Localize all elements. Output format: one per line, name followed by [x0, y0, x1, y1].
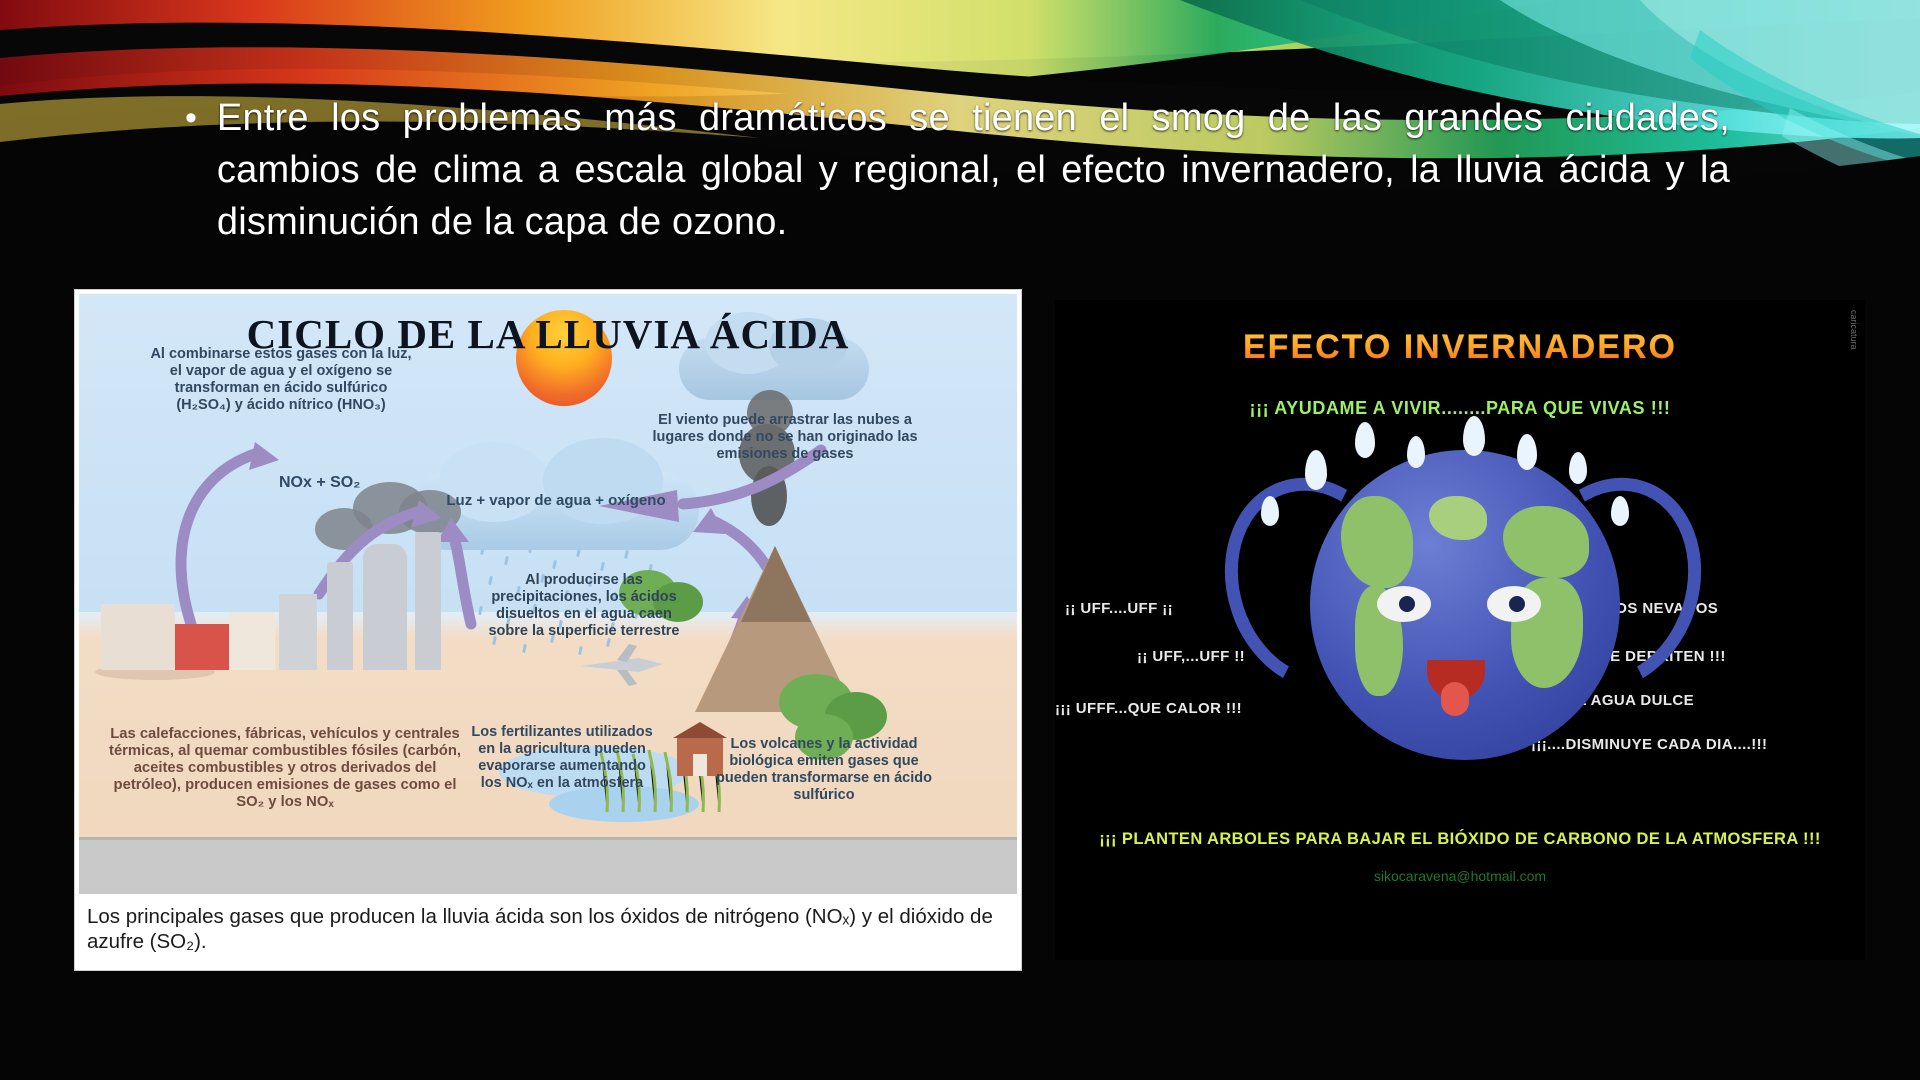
building-roof — [175, 624, 233, 670]
figure-right-subtitle: ¡¡¡ AYUDAME A VIVIR........PARA QUE VIVA… — [1055, 398, 1865, 419]
figure-right-call-to-action: ¡¡¡ PLANTEN ARBOLES PARA BAJAR EL BIÓXID… — [1055, 830, 1865, 849]
building-shape — [229, 612, 275, 670]
figure-right-title: EFECTO INVERNADERO — [1055, 328, 1865, 367]
bullet-marker: • — [185, 92, 197, 248]
label-uff-1: ¡¡ UFF....UFF ¡¡ — [1065, 600, 1173, 617]
slide-canvas: • Entre los problemas más dramáticos se … — [0, 0, 1920, 1080]
label-uff-2: ¡¡ UFF,...UFF !! — [1137, 648, 1245, 665]
cooling-tower — [363, 544, 407, 670]
airplane-icon — [577, 644, 667, 688]
acid-rain-illustration: CICLO DE LA LLUVIA ÁCIDA Luz + vapor de … — [79, 294, 1017, 894]
cloud-reaction-label: Luz + vapor de agua + oxígeno — [431, 492, 681, 509]
figure-right-email: sikocaravena@hotmail.com — [1055, 868, 1865, 884]
sweat-drop — [1611, 496, 1629, 526]
label-que-calor: ¡¡¡ UFFF...QUE CALOR !!! — [1055, 700, 1242, 717]
figure-left-caption: Los principales gases que producen la ll… — [79, 898, 1009, 966]
label-volcanoes: Los volcanes y la actividad biológica em… — [713, 736, 935, 804]
sweat-drop — [1261, 496, 1279, 526]
figure-acid-rain-cycle: CICLO DE LA LLUVIA ÁCIDA Luz + vapor de … — [75, 290, 1021, 970]
tongue-shape — [1441, 682, 1469, 716]
figure-greenhouse-effect: EFECTO INVERNADERO ¡¡¡ AYUDAME A VIVIR..… — [1055, 300, 1865, 960]
pupil-right — [1509, 596, 1525, 612]
sweat-drop — [1305, 450, 1327, 490]
sweat-drop — [1407, 436, 1425, 468]
label-precipitation: Al producirse las precipitaciones, los á… — [479, 572, 689, 640]
label-wind: El viento puede arrastrar las nubes a lu… — [635, 412, 935, 463]
label-gas-combination: Al combinarse estos gases con la luz, el… — [147, 346, 415, 414]
sweat-drop — [1355, 422, 1375, 458]
label-fertilizers: Los fertilizantes utilizados en la agric… — [467, 724, 657, 792]
nox-so2-label: NOx + SO₂ — [279, 474, 360, 492]
smokestack — [415, 532, 441, 670]
smokestack — [327, 562, 353, 670]
building-shape — [101, 604, 175, 670]
pupil-left — [1399, 596, 1415, 612]
label-disminuye: ¡¡¡....DISMINUYE CADA DIA....!!! — [1531, 736, 1767, 753]
sweat-drop — [1463, 416, 1485, 456]
label-industry: Las calefacciones, fábricas, vehículos y… — [109, 726, 461, 811]
figure-right-side-credit: caricatura — [1845, 310, 1859, 570]
bullet-paragraph: • Entre los problemas más dramáticos se … — [185, 92, 1730, 248]
sweat-drop — [1569, 452, 1587, 484]
building-shape — [279, 594, 317, 670]
bullet-body-text: Entre los problemas más dramáticos se ti… — [217, 92, 1730, 248]
sweat-drop — [1517, 434, 1537, 470]
